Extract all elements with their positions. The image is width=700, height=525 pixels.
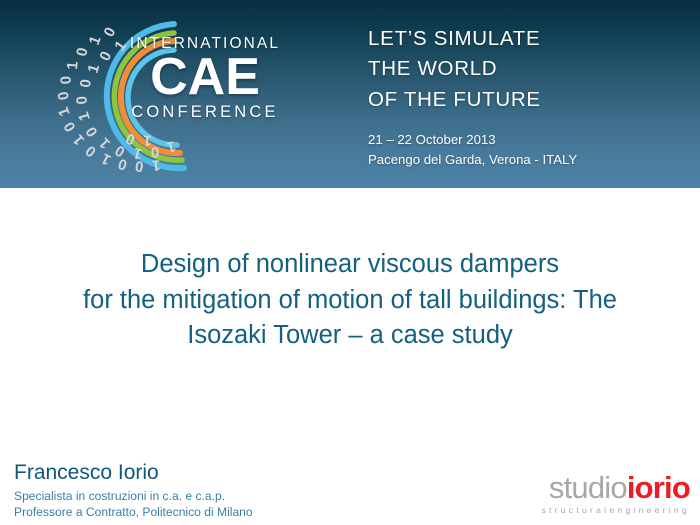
title-line-2: for the mitigation of motion of tall bui… [0,283,700,319]
tagline-line-2: THE WORLD [368,54,688,84]
event-location: Pacengo del Garda, Verona - ITALY [368,150,688,170]
tagline-line-3: OF THE FUTURE [368,85,688,115]
studio-iorio-logo: studioiorio structuralengineering [505,472,690,515]
studio-iorio-wordmark: studioiorio [505,472,690,503]
svg-text:1: 1 [55,105,74,119]
svg-text:0: 0 [83,124,102,140]
svg-text:0: 0 [73,95,91,105]
cae-conference-logo: 0 1 0 1 0 0 1 0 1 0 1 0 0 1 1 0 1 [24,14,304,179]
svg-text:1: 1 [86,34,105,48]
title-line-1: Design of nonlinear viscous dampers [0,247,700,283]
svg-text:0: 0 [57,75,75,85]
presentation-title: Design of nonlinear viscous dampers for … [0,247,700,354]
event-dates: 21 – 22 October 2013 [368,130,688,150]
svg-text:1: 1 [96,134,114,152]
logo-wordmark: INTERNATIONAL CAE CONFERENCE [110,36,300,121]
author-affiliations: Specialista in costruzioni in c.a. e c.a… [14,488,414,520]
header-banner: 0 1 0 1 0 0 1 0 1 0 1 0 0 1 1 0 1 [0,0,700,188]
studio-word-first: studio [549,470,627,505]
svg-text:0: 0 [82,142,99,161]
conference-tagline: LET’S SIMULATE THE WORLD OF THE FUTURE [368,24,688,115]
author-block: Francesco Iorio Specialista in costruzio… [14,461,414,520]
svg-text:1: 1 [85,62,104,75]
tagline-line-1: LET’S SIMULATE [368,24,688,54]
svg-text:0: 0 [55,90,73,101]
logo-line-conference: CONFERENCE [110,104,300,121]
studio-iorio-tagline: structuralengineering [505,505,690,515]
author-affiliation-1: Specialista in costruzioni in c.a. e c.a… [14,488,414,504]
svg-text:0: 0 [77,78,95,88]
svg-text:1: 1 [64,61,82,71]
event-meta-block: 21 – 22 October 2013 Pacengo del Garda, … [368,130,688,170]
author-affiliation-2: Professore a Contratto, Politecnico di M… [14,504,414,520]
studio-word-second: iorio [627,470,690,505]
svg-text:1: 1 [75,110,94,123]
header-text-block: LET’S SIMULATE THE WORLD OF THE FUTURE 2… [368,24,688,170]
logo-line-cae: CAE [110,53,300,103]
svg-text:0: 0 [73,46,91,58]
presentation-title-slide: 0 1 0 1 0 0 1 0 1 0 1 0 0 1 1 0 1 [0,0,700,525]
author-name: Francesco Iorio [14,461,414,485]
title-line-3: Isozaki Tower – a case study [0,318,700,354]
svg-text:1: 1 [143,131,153,149]
